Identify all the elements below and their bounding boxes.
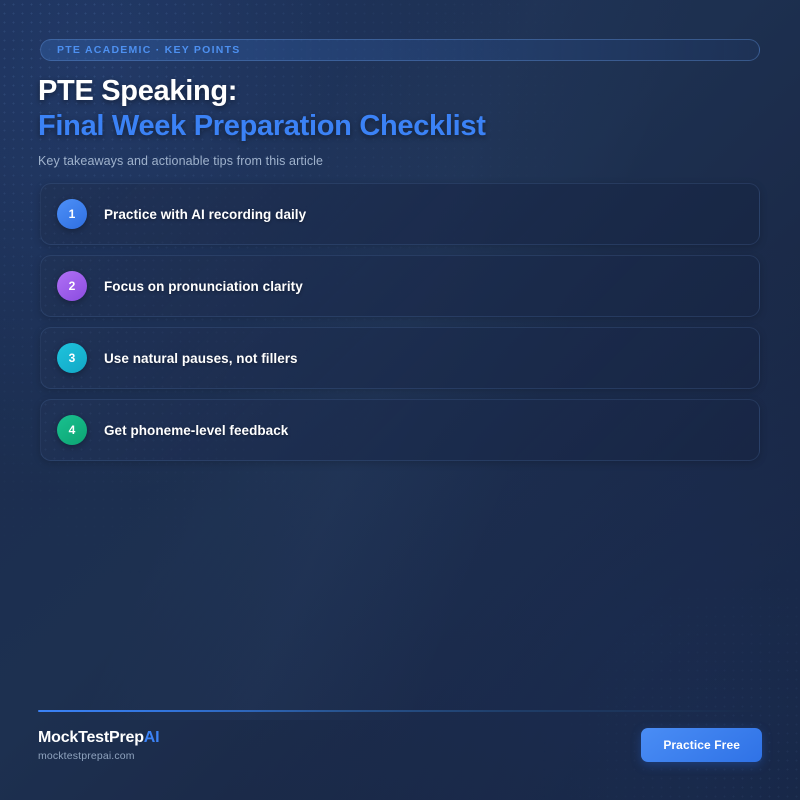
footer: MockTestPrepAI mocktestprepai.com Practi… [38,728,762,762]
list-item[interactable]: 1 Practice with AI recording daily [40,183,760,245]
brand-block: MockTestPrepAI mocktestprepai.com [38,729,159,762]
eyebrow-label: PTE ACADEMIC · KEY POINTS [41,44,241,56]
title-line-1: PTE Speaking: [38,74,486,109]
item-number-badge: 3 [57,343,87,373]
page-subtitle: Key takeaways and actionable tips from t… [38,154,486,168]
practice-free-button[interactable]: Practice Free [641,728,762,762]
brand-name-main: MockTestPrep [38,729,144,746]
page-title: PTE Speaking: Final Week Preparation Che… [38,74,486,168]
list-item-label: Use natural pauses, not fillers [104,351,298,366]
list-item[interactable]: 2 Focus on pronunciation clarity [40,255,760,317]
title-line-2: Final Week Preparation Checklist [38,109,486,144]
brand-url: mocktestprepai.com [38,750,159,762]
item-number-badge: 2 [57,271,87,301]
poster-canvas: PTE ACADEMIC · KEY POINTS PTE Speaking: … [0,0,800,800]
checklist: 1 Practice with AI recording daily 2 Foc… [40,183,760,471]
poster-inner: PTE ACADEMIC · KEY POINTS PTE Speaking: … [0,0,800,800]
item-number-badge: 1 [57,199,87,229]
footer-divider [38,710,762,712]
list-item[interactable]: 3 Use natural pauses, not fillers [40,327,760,389]
brand-name-accent: AI [144,729,160,746]
item-number-badge: 4 [57,415,87,445]
list-item-label: Get phoneme-level feedback [104,423,288,438]
list-item-label: Focus on pronunciation clarity [104,279,303,294]
list-item[interactable]: 4 Get phoneme-level feedback [40,399,760,461]
brand-logo: MockTestPrepAI [38,729,159,747]
list-item-label: Practice with AI recording daily [104,207,306,222]
eyebrow-pill: PTE ACADEMIC · KEY POINTS [40,39,760,61]
